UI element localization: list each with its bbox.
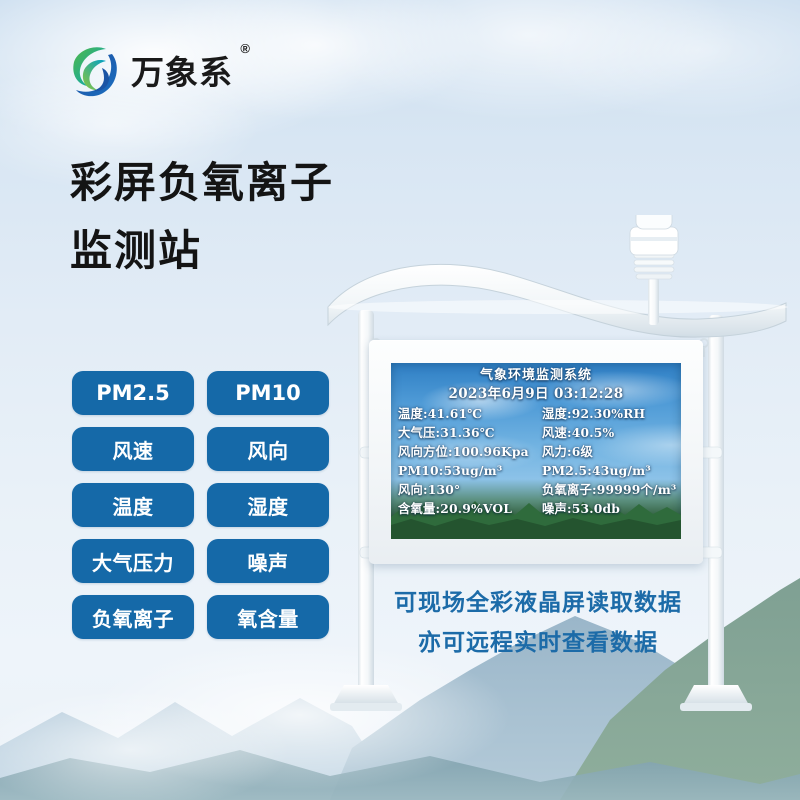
- lcd-data-row: 风向:130°负氧离子:99999个/m³: [398, 481, 674, 500]
- brand-name: 万象系: [131, 56, 233, 89]
- lcd-data-row: 温度:41.61℃湿度:92.30%RH: [398, 405, 674, 424]
- feature-button[interactable]: PM10: [207, 371, 329, 415]
- lcd-title: 气象环境监测系统: [398, 368, 674, 385]
- feature-button[interactable]: 风速: [72, 427, 194, 471]
- feature-button[interactable]: 噪声: [207, 539, 329, 583]
- caption-line-2: 亦可远程实时查看数据: [378, 624, 698, 664]
- lcd-reading-right: 负氧离子:99999个/m³: [542, 481, 677, 500]
- lcd-reading-right: 噪声:53.0db: [542, 500, 674, 519]
- feature-button[interactable]: 负氧离子: [72, 595, 194, 639]
- feature-button[interactable]: 风向: [207, 427, 329, 471]
- feature-button[interactable]: 氧含量: [207, 595, 329, 639]
- lcd-reading-left: 风向:130°: [398, 481, 542, 500]
- poster-stage: 万象系 ® 彩屏负氧离子 监测站 PM2.5PM10风速风向温度湿度大气压力噪声…: [0, 0, 800, 800]
- caption-line-1: 可现场全彩液晶屏读取数据: [378, 584, 698, 624]
- lcd-reading-left: PM10:53ug/m³: [398, 462, 542, 481]
- lcd-reading-right: 风速:40.5%: [542, 424, 674, 443]
- lcd-data-row: PM10:53ug/m³PM2.5:43ug/m³: [398, 462, 674, 481]
- ultrasonic-weather-sensor-icon: [630, 215, 678, 279]
- feature-button[interactable]: PM2.5: [72, 371, 194, 415]
- lcd-reading-right: PM2.5:43ug/m³: [542, 462, 674, 481]
- bottom-caption: 可现场全彩液晶屏读取数据 亦可远程实时查看数据: [378, 584, 698, 663]
- lcd-display-panel: 气象环境监测系统 2023年6月9日 03:12:28 温度:41.61℃湿度:…: [369, 340, 703, 564]
- registered-trademark-mark: ®: [240, 41, 250, 56]
- lcd-reading-right: 湿度:92.30%RH: [542, 405, 674, 424]
- lcd-data-row: 含氧量:20.9%VOL噪声:53.0db: [398, 500, 674, 519]
- page-title-line-2: 监测站: [70, 218, 334, 284]
- lcd-readout: 气象环境监测系统 2023年6月9日 03:12:28 温度:41.61℃湿度:…: [391, 363, 681, 539]
- lcd-reading-right: 风力:6级: [542, 443, 674, 462]
- page-title: 彩屏负氧离子 监测站: [70, 150, 334, 287]
- lcd-reading-left: 含氧量:20.9%VOL: [398, 500, 542, 519]
- lcd-datetime: 2023年6月9日 03:12:28: [398, 385, 674, 405]
- lcd-screen: 气象环境监测系统 2023年6月9日 03:12:28 温度:41.61℃湿度:…: [391, 363, 681, 539]
- page-title-line-1: 彩屏负氧离子: [70, 150, 334, 216]
- lcd-reading-left: 温度:41.61℃: [398, 405, 542, 424]
- feature-button[interactable]: 温度: [72, 483, 194, 527]
- lcd-data-rows: 温度:41.61℃湿度:92.30%RH大气压:31.36℃风速:40.5%风向…: [398, 405, 674, 518]
- feature-button[interactable]: 大气压力: [72, 539, 194, 583]
- feature-button-grid: PM2.5PM10风速风向温度湿度大气压力噪声负氧离子氧含量: [72, 371, 329, 639]
- lcd-reading-left: 风向方位:100.96Kpa: [398, 443, 542, 462]
- lcd-data-row: 大气压:31.36℃风速:40.5%: [398, 424, 674, 443]
- lcd-reading-left: 大气压:31.36℃: [398, 424, 542, 443]
- brand-logo: 万象系 ®: [68, 44, 233, 100]
- lcd-data-row: 风向方位:100.96Kpa风力:6级: [398, 443, 674, 462]
- feature-button[interactable]: 湿度: [207, 483, 329, 527]
- globe-swirl-logo-icon: [68, 44, 122, 100]
